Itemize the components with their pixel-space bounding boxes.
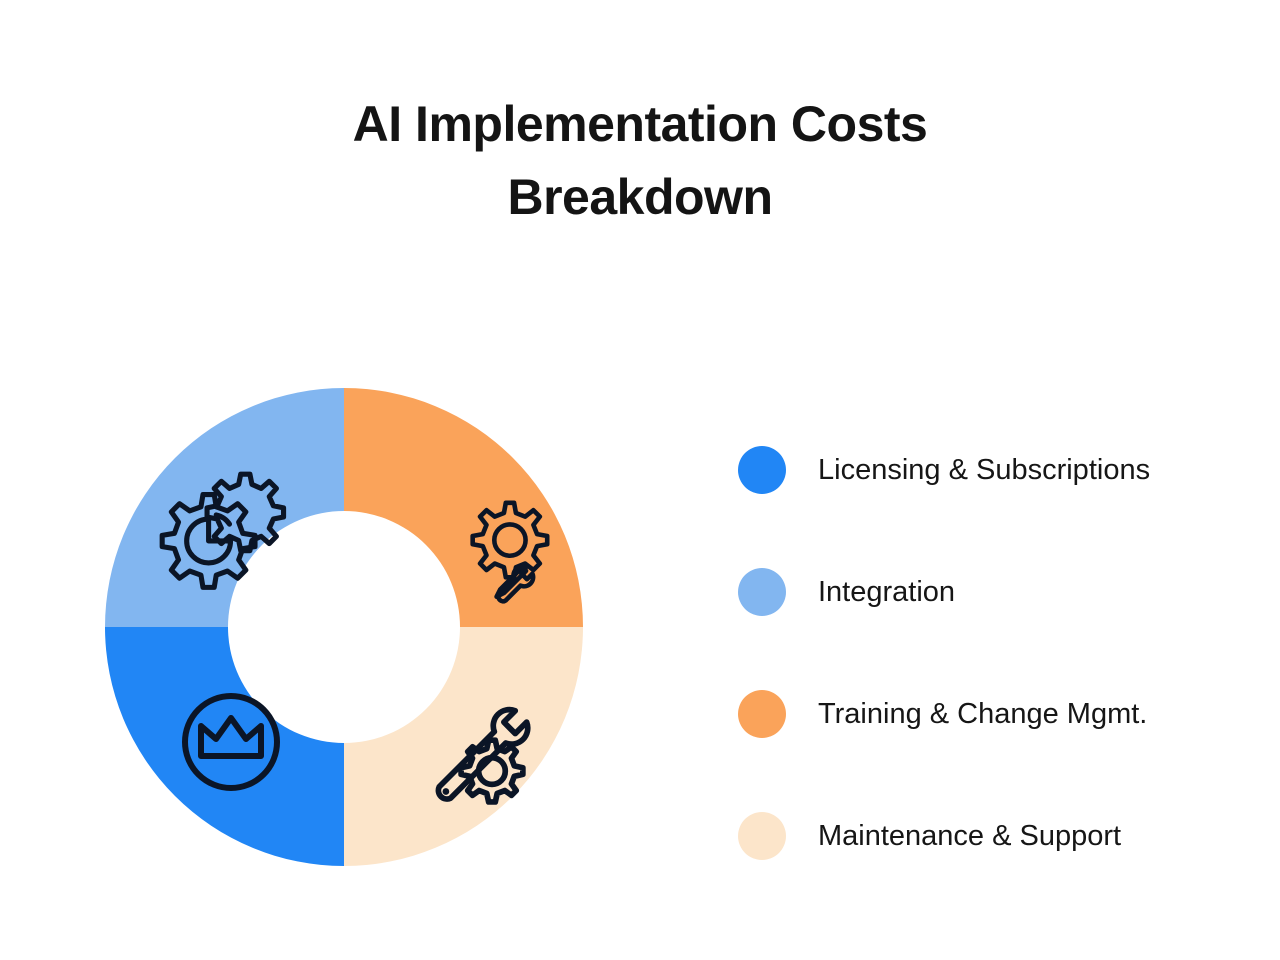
donut-segment-integration[interactable] bbox=[105, 388, 344, 627]
page-title-line-1: AI Implementation Costs bbox=[240, 88, 1040, 161]
donut-segment-training[interactable] bbox=[344, 388, 583, 627]
legend-item-training[interactable]: Training & Change Mgmt. bbox=[738, 653, 1238, 775]
legend-item-maintenance[interactable]: Maintenance & Support bbox=[738, 775, 1238, 897]
donut-chart-svg bbox=[105, 388, 583, 866]
legend-swatch-licensing bbox=[738, 446, 786, 494]
donut-segment-licensing[interactable] bbox=[105, 627, 344, 866]
page-title: AI Implementation Costs Breakdown bbox=[240, 88, 1040, 234]
legend-label-training: Training & Change Mgmt. bbox=[818, 697, 1147, 731]
legend-label-maintenance: Maintenance & Support bbox=[818, 819, 1121, 853]
legend-swatch-maintenance bbox=[738, 812, 786, 860]
legend-label-licensing: Licensing & Subscriptions bbox=[818, 453, 1150, 487]
legend-item-integration[interactable]: Integration bbox=[738, 531, 1238, 653]
infographic-page: AI Implementation Costs Breakdown bbox=[0, 0, 1280, 960]
page-title-line-2: Breakdown bbox=[240, 161, 1040, 234]
chart-legend: Licensing & Subscriptions Integration Tr… bbox=[738, 409, 1238, 897]
donut-segment-maintenance[interactable] bbox=[344, 627, 583, 866]
legend-item-licensing[interactable]: Licensing & Subscriptions bbox=[738, 409, 1238, 531]
legend-label-integration: Integration bbox=[818, 575, 955, 609]
legend-swatch-integration bbox=[738, 568, 786, 616]
legend-swatch-training bbox=[738, 690, 786, 738]
donut-chart bbox=[105, 388, 583, 866]
